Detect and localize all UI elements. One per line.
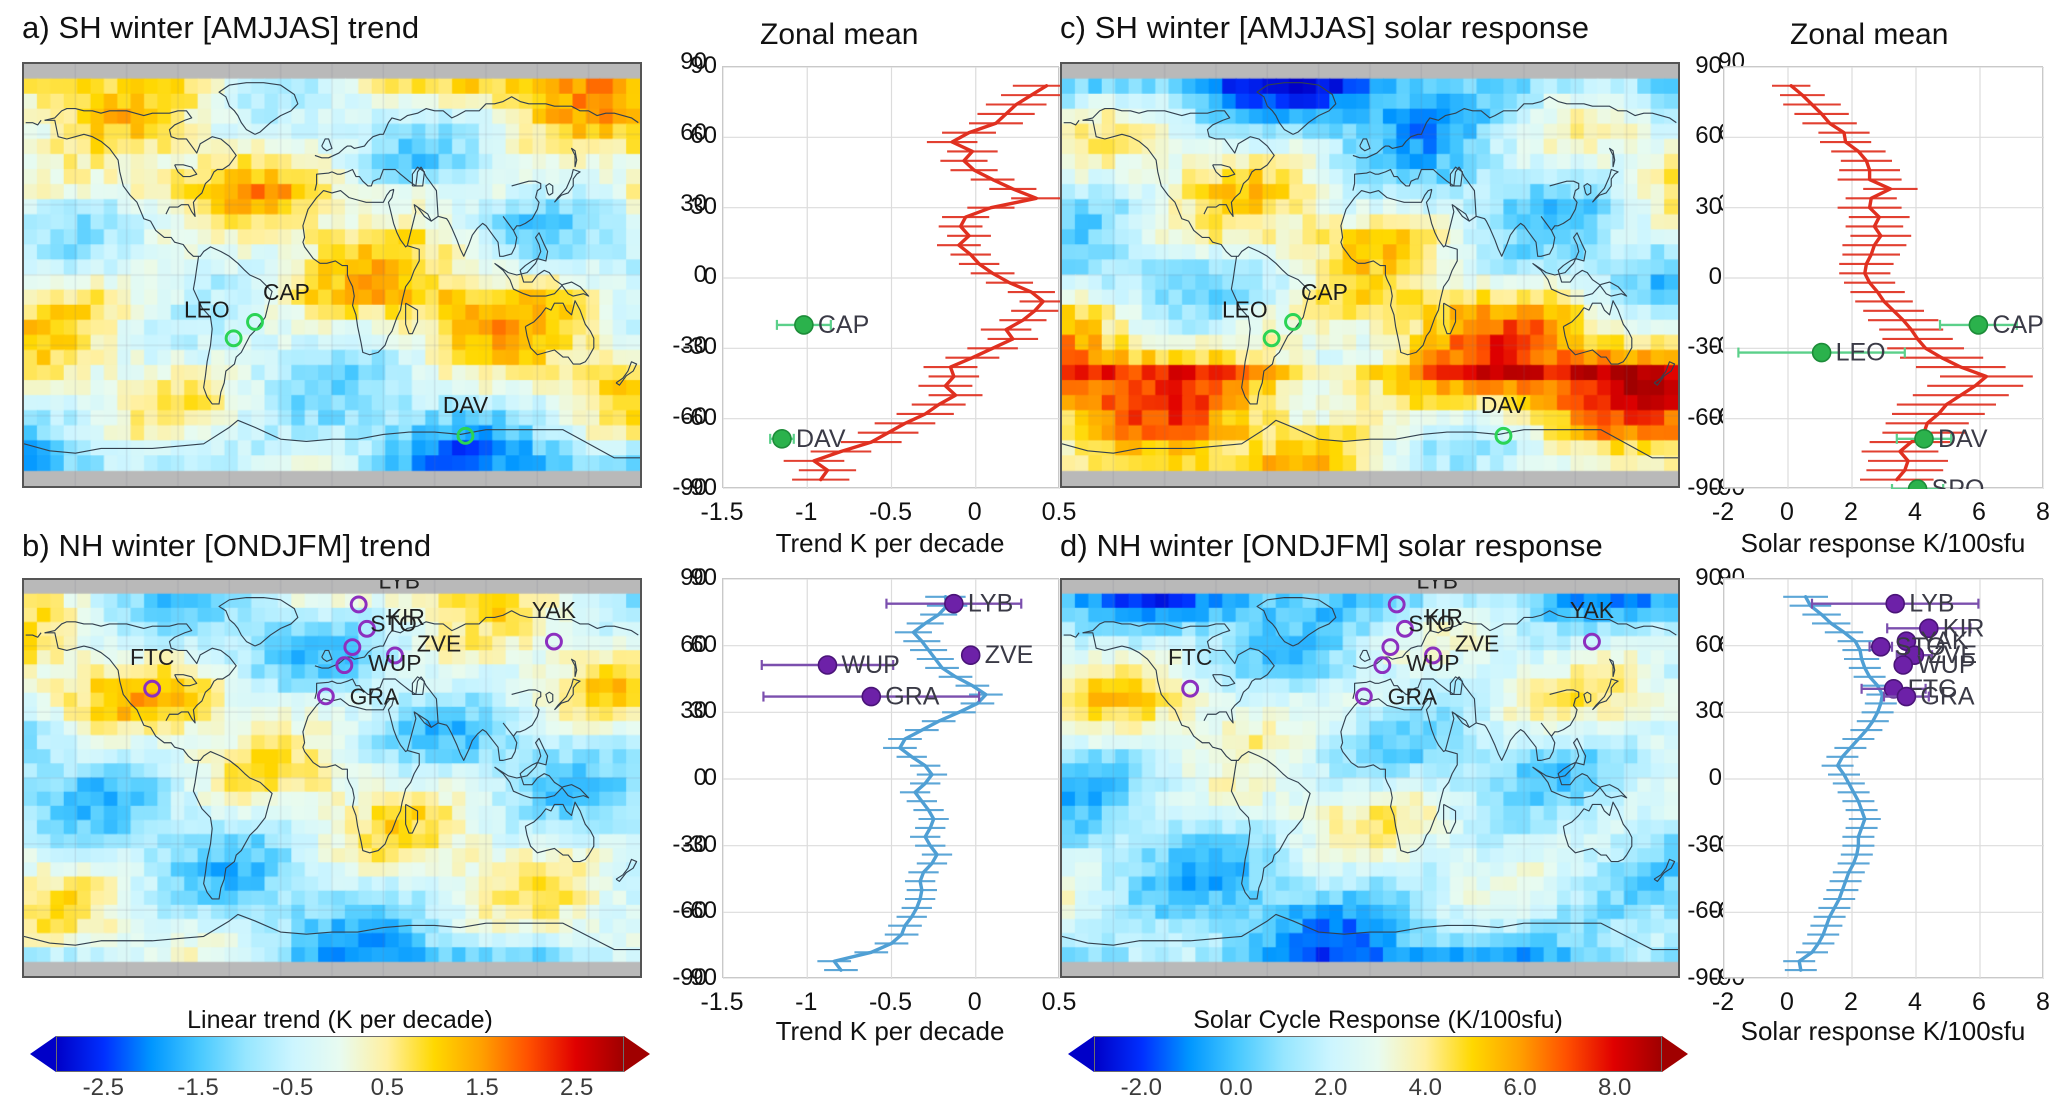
svg-text:LEO: LEO bbox=[1836, 339, 1886, 367]
lat-tick-30: 30 bbox=[1695, 193, 1722, 221]
map-station-STO: STO bbox=[1383, 610, 1455, 654]
svg-text:LEO: LEO bbox=[1222, 297, 1268, 323]
x-tick-4: 4 bbox=[1908, 498, 1922, 527]
colorbar-tick-2.0: 2.0 bbox=[1314, 1074, 1347, 1102]
svg-text:YAK: YAK bbox=[532, 597, 576, 623]
lat-tick-90: 90 bbox=[1695, 52, 1722, 80]
solar-colorbar-title: Solar Cycle Response (K/100sfu) bbox=[1193, 1006, 1563, 1035]
solar-colorbar-arrow-right bbox=[1662, 1036, 1688, 1072]
svg-text:WUP: WUP bbox=[841, 651, 899, 679]
zonal-station-GRA: GRA bbox=[862, 683, 940, 711]
x-tick--1: -1 bbox=[795, 498, 817, 527]
x-tick-0: 0 bbox=[968, 498, 982, 527]
svg-text:DAV: DAV bbox=[443, 392, 489, 418]
map-a-overlay: CAPLEODAV bbox=[24, 64, 640, 486]
lat-tick-0: 0 bbox=[704, 263, 717, 291]
zonal-d-lat-axis: 9060300-30-60-90 bbox=[1660, 578, 1722, 978]
panel-b-title: b) NH winter [ONDJFM] trend bbox=[22, 528, 431, 564]
colorbar-tick--1.5: -1.5 bbox=[177, 1074, 218, 1102]
x-tick-4: 4 bbox=[1908, 988, 1922, 1017]
svg-text:ZVE: ZVE bbox=[417, 631, 461, 657]
zonal-c-xlabel: Solar response K/100sfu bbox=[1741, 528, 2026, 559]
zonal-b-lat-axis: 9060300-30-60-90 bbox=[655, 578, 717, 978]
lat-tick-30: 30 bbox=[690, 697, 717, 725]
x-tick--1: -1 bbox=[795, 988, 817, 1017]
colorbar-tick-8.0: 8.0 bbox=[1598, 1074, 1631, 1102]
lat-tick-60: 60 bbox=[690, 631, 717, 659]
zonal-a-svg: CAPDAV bbox=[723, 67, 1060, 489]
lat-tick--60: -60 bbox=[1687, 897, 1722, 925]
svg-text:STO: STO bbox=[1408, 610, 1455, 636]
lat-tick-0: 0 bbox=[704, 764, 717, 792]
solar-colorbar-gradient bbox=[1094, 1036, 1662, 1072]
trend-colorbar-gradient bbox=[56, 1036, 624, 1072]
x-tick-8: 8 bbox=[2036, 988, 2050, 1017]
zonal-station-LYB: LYB bbox=[945, 590, 1013, 618]
zonal-c-svg: CAPLEODAVSPO bbox=[1724, 67, 2044, 489]
svg-text:CAP: CAP bbox=[1301, 279, 1348, 305]
svg-text:LYB: LYB bbox=[379, 580, 420, 594]
lat-tick-30: 30 bbox=[1695, 697, 1722, 725]
trend-colorbar-arrow-left bbox=[30, 1036, 56, 1072]
zonal-b-svg: LYBZVEWUPGRA bbox=[723, 579, 1060, 979]
zonal-c-title: Zonal mean bbox=[1790, 18, 1948, 52]
colorbar-tick-2.5: 2.5 bbox=[560, 1074, 593, 1102]
map-station-YAK: YAK bbox=[532, 597, 576, 649]
zonal-mean-chart-d: LYBKIRYAKZVESTOWUPFTCGRA bbox=[1723, 578, 2043, 978]
lat-tick--30: -30 bbox=[1687, 333, 1722, 361]
zonal-a-xlabel: Trend K per decade bbox=[776, 528, 1005, 559]
lat-tick-60: 60 bbox=[1695, 631, 1722, 659]
svg-text:STO: STO bbox=[370, 610, 417, 636]
svg-text:YAK: YAK bbox=[1570, 597, 1614, 623]
colorbar-tick-4.0: 4.0 bbox=[1409, 1074, 1442, 1102]
colorbar-tick-1.5: 1.5 bbox=[465, 1074, 498, 1102]
svg-text:ZVE: ZVE bbox=[985, 641, 1034, 669]
lat-tick-0: 0 bbox=[1709, 764, 1722, 792]
svg-text:GRA: GRA bbox=[350, 683, 400, 709]
lat-tick--60: -60 bbox=[682, 404, 717, 432]
svg-text:LYB: LYB bbox=[1417, 580, 1458, 594]
panel-d-title: d) NH winter [ONDJFM] solar response bbox=[1060, 528, 1603, 564]
zonal-station-WUP: WUP bbox=[818, 651, 899, 679]
lat-tick-0: 0 bbox=[1709, 263, 1722, 291]
map-station-CAP: CAP bbox=[1286, 279, 1348, 329]
svg-text:CAP: CAP bbox=[263, 279, 310, 305]
map-c-overlay: CAPLEODAV bbox=[1062, 64, 1678, 486]
map-station-FTC: FTC bbox=[1168, 644, 1212, 696]
x-tick-0.5: 0.5 bbox=[1042, 498, 1077, 527]
svg-text:GRA: GRA bbox=[1388, 683, 1438, 709]
map-station-STO: STO bbox=[345, 610, 417, 654]
lat-tick-60: 60 bbox=[1695, 122, 1722, 150]
svg-text:WUP: WUP bbox=[368, 650, 421, 676]
colorbar-tick-6.0: 6.0 bbox=[1503, 1074, 1536, 1102]
svg-text:GRA: GRA bbox=[885, 683, 940, 711]
map-station-LEO: LEO bbox=[1222, 297, 1279, 346]
svg-text:CAP: CAP bbox=[1992, 311, 2043, 339]
map-station-YAK: YAK bbox=[1570, 597, 1614, 649]
zonal-b-xlabel: Trend K per decade bbox=[776, 1016, 1005, 1047]
colorbar-tick-0.0: 0.0 bbox=[1219, 1074, 1252, 1102]
colorbar-tick--0.5: -0.5 bbox=[272, 1074, 313, 1102]
map-station-FTC: FTC bbox=[130, 644, 174, 696]
panel-a-title: a) SH winter [AMJJAS] trend bbox=[22, 10, 419, 46]
solar-colorbar: Solar Cycle Response (K/100sfu) -2.00.02… bbox=[1068, 1010, 1688, 1080]
svg-text:GRA: GRA bbox=[1920, 683, 1975, 711]
zonal-station-SPO: SPO bbox=[1909, 475, 1985, 489]
x-tick-8: 8 bbox=[2036, 498, 2050, 527]
map-station-DAV: DAV bbox=[1481, 392, 1527, 443]
svg-text:CAP: CAP bbox=[818, 311, 869, 339]
x-tick-2: 2 bbox=[1844, 498, 1858, 527]
x-tick--2: -2 bbox=[1712, 498, 1734, 527]
lat-tick-60: 60 bbox=[690, 122, 717, 150]
map-panel-c: CAPLEODAV bbox=[1060, 62, 1680, 488]
trend-colorbar: Linear trend (K per decade) -2.5-1.5-0.5… bbox=[30, 1010, 650, 1080]
zonal-d-svg: LYBKIRYAKZVESTOWUPFTCGRA bbox=[1724, 579, 2044, 979]
svg-text:FTC: FTC bbox=[1168, 644, 1212, 670]
lat-tick--60: -60 bbox=[1687, 404, 1722, 432]
svg-text:LEO: LEO bbox=[184, 297, 230, 323]
zonal-a-lat-axis: 9060300-30-60-90 bbox=[655, 66, 717, 488]
lat-tick--30: -30 bbox=[682, 831, 717, 859]
map-d-overlay: LYBKIRSTOZVEWUPGRAYAKFTC bbox=[1062, 580, 1678, 976]
x-tick--0.5: -0.5 bbox=[869, 498, 912, 527]
trend-colorbar-arrow-right bbox=[624, 1036, 650, 1072]
svg-text:ZVE: ZVE bbox=[1455, 631, 1499, 657]
lat-tick-90: 90 bbox=[690, 564, 717, 592]
map-station-DAV: DAV bbox=[443, 392, 489, 443]
svg-text:SPO: SPO bbox=[1932, 475, 1985, 489]
x-tick--0.5: -0.5 bbox=[869, 988, 912, 1017]
zonal-mean-chart-c: CAPLEODAVSPO bbox=[1723, 66, 2043, 488]
lat-tick-90: 90 bbox=[690, 52, 717, 80]
solar-colorbar-arrow-left bbox=[1068, 1036, 1094, 1072]
colorbar-tick-0.5: 0.5 bbox=[371, 1074, 404, 1102]
map-panel-d: LYBKIRSTOZVEWUPGRAYAKFTC bbox=[1060, 578, 1680, 978]
zonal-station-CAP: CAP bbox=[795, 311, 869, 339]
x-tick-6: 6 bbox=[1972, 498, 1986, 527]
colorbar-tick--2.0: -2.0 bbox=[1121, 1074, 1162, 1102]
lat-tick-90: 90 bbox=[1695, 564, 1722, 592]
x-tick--1.5: -1.5 bbox=[700, 498, 743, 527]
zonal-mean-chart-a: CAPDAV bbox=[722, 66, 1059, 488]
x-tick-6: 6 bbox=[1972, 988, 1986, 1017]
svg-text:LYB: LYB bbox=[968, 590, 1013, 618]
x-tick-2: 2 bbox=[1844, 988, 1858, 1017]
zonal-a-title: Zonal mean bbox=[760, 18, 918, 52]
svg-text:FTC: FTC bbox=[130, 644, 174, 670]
trend-colorbar-title: Linear trend (K per decade) bbox=[187, 1006, 493, 1035]
lat-tick--60: -60 bbox=[682, 897, 717, 925]
lat-tick--30: -30 bbox=[1687, 831, 1722, 859]
map-station-GRA: GRA bbox=[1356, 683, 1438, 709]
map-b-overlay: LYBKIRSTOZVEWUPGRAYAKFTC bbox=[24, 580, 640, 976]
x-tick--2: -2 bbox=[1712, 988, 1734, 1017]
map-station-GRA: GRA bbox=[318, 683, 400, 709]
lat-tick--30: -30 bbox=[682, 333, 717, 361]
map-station-CAP: CAP bbox=[248, 279, 310, 329]
colorbar-tick--2.5: -2.5 bbox=[83, 1074, 124, 1102]
zonal-c-lat-axis: 9060300-30-60-90 bbox=[1660, 66, 1722, 488]
zonal-station-DAV: DAV bbox=[773, 425, 846, 453]
zonal-station-LEO: LEO bbox=[1813, 339, 1886, 367]
x-tick--1.5: -1.5 bbox=[700, 988, 743, 1017]
x-tick-0: 0 bbox=[1780, 988, 1794, 1017]
lat-tick-30: 30 bbox=[690, 193, 717, 221]
svg-text:DAV: DAV bbox=[796, 425, 846, 453]
zonal-d-xlabel: Solar response K/100sfu bbox=[1741, 1016, 2026, 1047]
svg-text:WUP: WUP bbox=[1406, 650, 1459, 676]
map-station-LEO: LEO bbox=[184, 297, 241, 346]
svg-text:DAV: DAV bbox=[1938, 425, 1988, 453]
x-tick-0: 0 bbox=[1780, 498, 1794, 527]
svg-text:DAV: DAV bbox=[1481, 392, 1527, 418]
map-panel-b: LYBKIRSTOZVEWUPGRAYAKFTC bbox=[22, 578, 642, 978]
figure-root: a) SH winter [AMJJAS] trend CAPLEODAV 90… bbox=[0, 0, 2067, 1083]
panel-c-title: c) SH winter [AMJJAS] solar response bbox=[1060, 10, 1589, 46]
map-panel-a: CAPLEODAV bbox=[22, 62, 642, 488]
x-tick-0: 0 bbox=[968, 988, 982, 1017]
zonal-mean-chart-b: LYBZVEWUPGRA bbox=[722, 578, 1059, 978]
